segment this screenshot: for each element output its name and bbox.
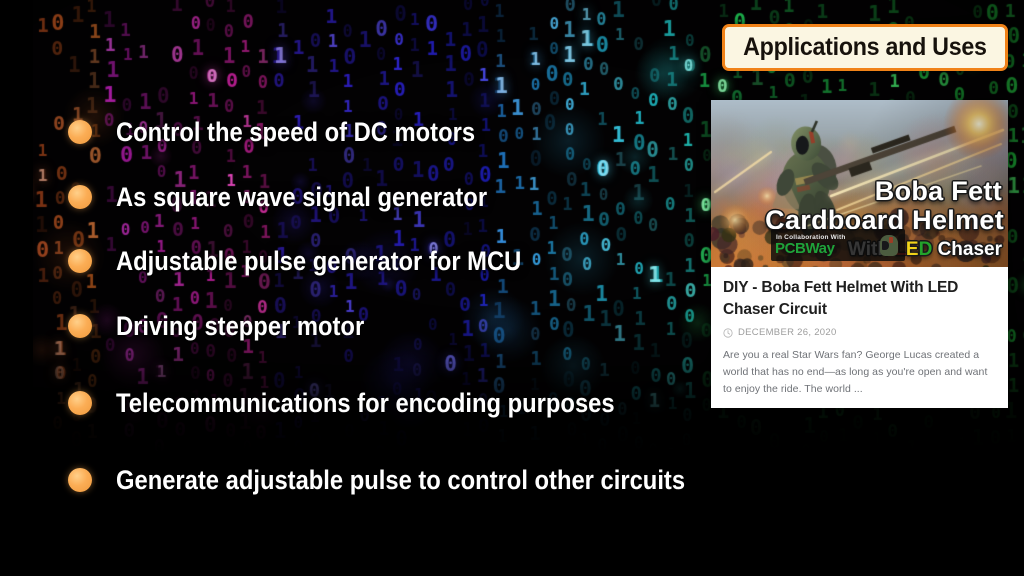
list-item: Telecommunications for encoding purposes — [68, 381, 708, 424]
bullet-item-label: Driving stepper motor — [116, 311, 364, 341]
list-item: Generate adjustable pulse to control oth… — [68, 458, 708, 501]
bullet-dot-icon — [68, 391, 92, 415]
article-card-body: DIY - Boba Fett Helmet With LED Chaser C… — [711, 267, 1008, 408]
led-letter-e: E — [906, 239, 919, 260]
bullet-item-label: Control the speed of DC motors — [116, 117, 475, 147]
page-title: Applications and Uses — [743, 33, 987, 62]
article-excerpt: Are you a real Star Wars fan? George Luc… — [723, 347, 996, 398]
bullet-dot-icon — [68, 249, 92, 273]
article-meta: December 26, 2020 — [723, 327, 996, 338]
overlay-chaser-label: Chaser — [932, 239, 1002, 260]
helmet-visor-shape — [882, 241, 889, 250]
bullet-item-label: Generate adjustable pulse to control oth… — [116, 465, 685, 495]
bullet-dot-icon — [68, 120, 92, 144]
bullet-item-label: Telecommunications for encoding purposes — [116, 388, 615, 418]
bullet-dot-icon — [68, 468, 92, 492]
bullet-dot-icon — [68, 314, 92, 338]
list-item: Adjustable pulse generator for MCU — [68, 239, 708, 282]
clock-icon — [723, 328, 733, 338]
pcbway-logo-text: PCBWay — [774, 241, 876, 257]
slide-title-badge: Applications and Uses — [722, 24, 1008, 71]
bullet-dot-icon — [68, 185, 92, 209]
article-thumbnail[interactable]: Boba Fett Cardboard Helmet With LED Chas… — [711, 100, 1008, 267]
boba-fett-helmet-icon — [876, 232, 902, 258]
helmet-stripe-shape — [889, 237, 893, 243]
led-letter-d: D — [919, 239, 933, 260]
list-item: Control the speed of DC motors — [68, 110, 708, 153]
thumbnail-overlay-line-1: Boba Fett — [875, 176, 1002, 207]
article-card[interactable]: Boba Fett Cardboard Helmet With LED Chas… — [711, 100, 1008, 408]
pcbway-text-block: In Collaboration With PCBWay — [774, 234, 876, 257]
list-item: Driving stepper motor — [68, 304, 708, 347]
presentation-slide: Applications and Uses Control the speed … — [0, 0, 1024, 576]
list-item: As square wave signal generator — [68, 175, 708, 218]
article-date: December 26, 2020 — [738, 327, 837, 338]
bullet-item-label: As square wave signal generator — [116, 182, 487, 212]
article-title[interactable]: DIY - Boba Fett Helmet With LED Chaser C… — [723, 277, 996, 321]
bullet-list: Control the speed of DC motors As square… — [68, 110, 708, 501]
pcbway-sponsor-badge: In Collaboration With PCBWay — [771, 229, 905, 261]
bullet-item-label: Adjustable pulse generator for MCU — [116, 246, 521, 276]
